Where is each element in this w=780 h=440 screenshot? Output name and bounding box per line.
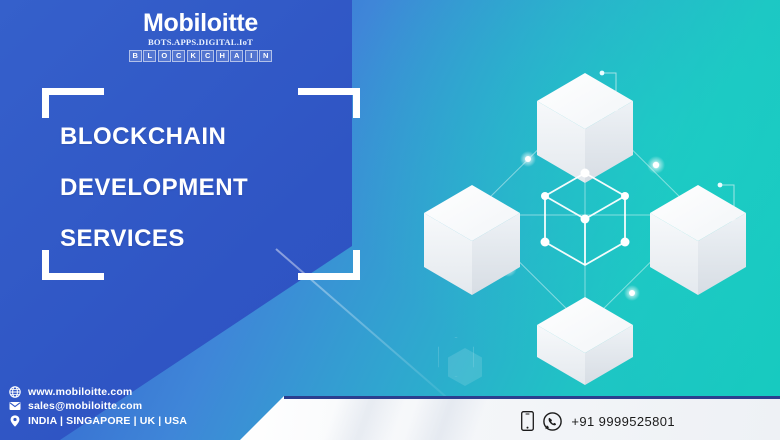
locations-text: INDIA | SINGAPORE | UK | USA: [28, 414, 187, 429]
cube-bottom: [537, 297, 633, 385]
page-title: Blockchain Development Services: [60, 108, 350, 261]
cube-right: [650, 185, 746, 295]
frame-corner-top-right-v: [353, 88, 360, 118]
brand-logo: Mobiloitte BOTS.APPS.DIGITAL.IoT BLOCKCH…: [128, 10, 273, 62]
blockchain-letter-2: O: [158, 50, 171, 62]
phone-contact[interactable]: +91 9999525801: [521, 411, 675, 431]
contact-row-locations: INDIA | SINGAPORE | UK | USA: [9, 414, 187, 429]
frame-corner-top-left-v: [42, 88, 49, 118]
blockchain-letter-1: L: [143, 50, 156, 62]
contact-info: www.mobiloitte.com sales@mobiloitte.com …: [9, 385, 187, 429]
phone-number: +91 9999525801: [571, 414, 675, 429]
headline-line-2: Development: [60, 159, 350, 210]
location-pin-icon: [9, 415, 21, 427]
frame-corner-bottom-left: [42, 273, 104, 280]
envelope-icon: [9, 400, 21, 412]
mobile-phone-icon: [521, 411, 534, 431]
globe-icon: [9, 386, 21, 398]
footer-streak-2: [403, 399, 488, 440]
blockchain-letter-3: C: [172, 50, 185, 62]
blockchain-letter-6: H: [216, 50, 229, 62]
blockchain-letter-0: B: [129, 50, 142, 62]
contact-row-website[interactable]: www.mobiloitte.com: [9, 385, 187, 400]
website-text: www.mobiloitte.com: [28, 385, 132, 400]
blockchain-letter-9: N: [259, 50, 272, 62]
cube-left: [424, 185, 520, 295]
frame-corner-bottom-right-v: [353, 250, 360, 280]
brand-name: Mobiloitte: [128, 10, 273, 36]
headline-line-1: Blockchain: [60, 108, 350, 159]
blockchain-letter-4: K: [187, 50, 200, 62]
brand-tagline: BOTS.APPS.DIGITAL.IoT: [128, 37, 273, 47]
headline-line-3: Services: [60, 210, 350, 261]
cube-top: [537, 73, 633, 183]
frame-corner-bottom-left-v: [42, 250, 49, 280]
whatsapp-icon: [543, 412, 562, 431]
email-text: sales@mobiloitte.com: [28, 399, 142, 414]
frame-corner-bottom-right: [298, 273, 360, 280]
footer-bar: [240, 396, 780, 440]
contact-row-email[interactable]: sales@mobiloitte.com: [9, 399, 187, 414]
blockchain-letter-8: I: [245, 50, 258, 62]
frame-corner-top-left: [42, 88, 104, 95]
brand-blockchain-badge: BLOCKCHAIN: [128, 50, 273, 62]
banner: Mobiloitte BOTS.APPS.DIGITAL.IoT BLOCKCH…: [0, 0, 780, 440]
footer-streak-1: [323, 399, 408, 440]
blockchain-network-graphic: [420, 55, 770, 385]
blockchain-letter-7: A: [230, 50, 243, 62]
frame-corner-top-right: [298, 88, 360, 95]
blockchain-letter-5: C: [201, 50, 214, 62]
headline-frame: Blockchain Development Services: [42, 88, 360, 280]
